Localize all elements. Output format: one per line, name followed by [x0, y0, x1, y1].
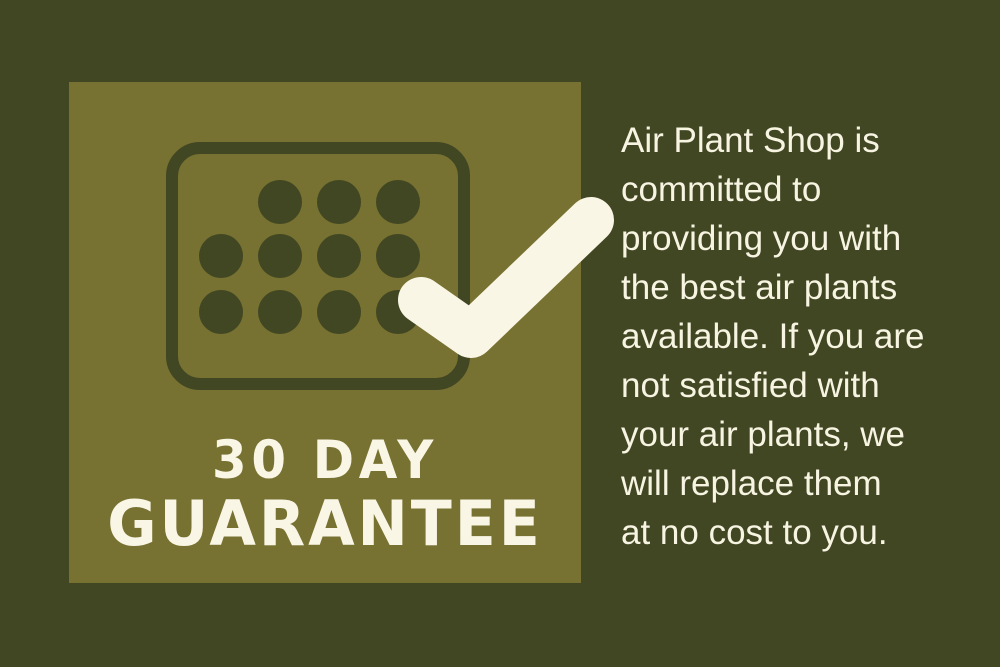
- guarantee-banner: 30 DAY GUARANTEE Air Plant Shop is commi…: [0, 0, 1000, 667]
- promise-line: will replace them: [621, 459, 951, 508]
- promise-line: Air Plant Shop is: [621, 116, 951, 165]
- check-icon: [399, 200, 609, 350]
- guarantee-title: 30 DAY GUARANTEE: [69, 434, 581, 555]
- guarantee-description: Air Plant Shop is committed to providing…: [621, 116, 951, 557]
- promise-line: not satisfied with: [621, 361, 951, 410]
- promise-line: committed to: [621, 165, 951, 214]
- calendar-dot: [317, 180, 361, 224]
- promise-line: your air plants, we: [621, 410, 951, 459]
- calendar-dot: [317, 234, 361, 278]
- promise-line: at no cost to you.: [621, 508, 951, 557]
- guarantee-title-line-2: GUARANTEE: [77, 493, 574, 555]
- calendar-dot: [258, 234, 302, 278]
- guarantee-title-line-1: 30 DAY: [84, 434, 565, 487]
- calendar-dot: [199, 234, 243, 278]
- guarantee-badge-panel: 30 DAY GUARANTEE: [69, 82, 581, 583]
- calendar-dot: [317, 290, 361, 334]
- calendar-dot: [199, 290, 243, 334]
- promise-line: the best air plants: [621, 263, 951, 312]
- promise-line: providing you with: [621, 214, 951, 263]
- calendar-dot: [258, 290, 302, 334]
- calendar-dot: [258, 180, 302, 224]
- promise-line: available. If you are: [621, 312, 951, 361]
